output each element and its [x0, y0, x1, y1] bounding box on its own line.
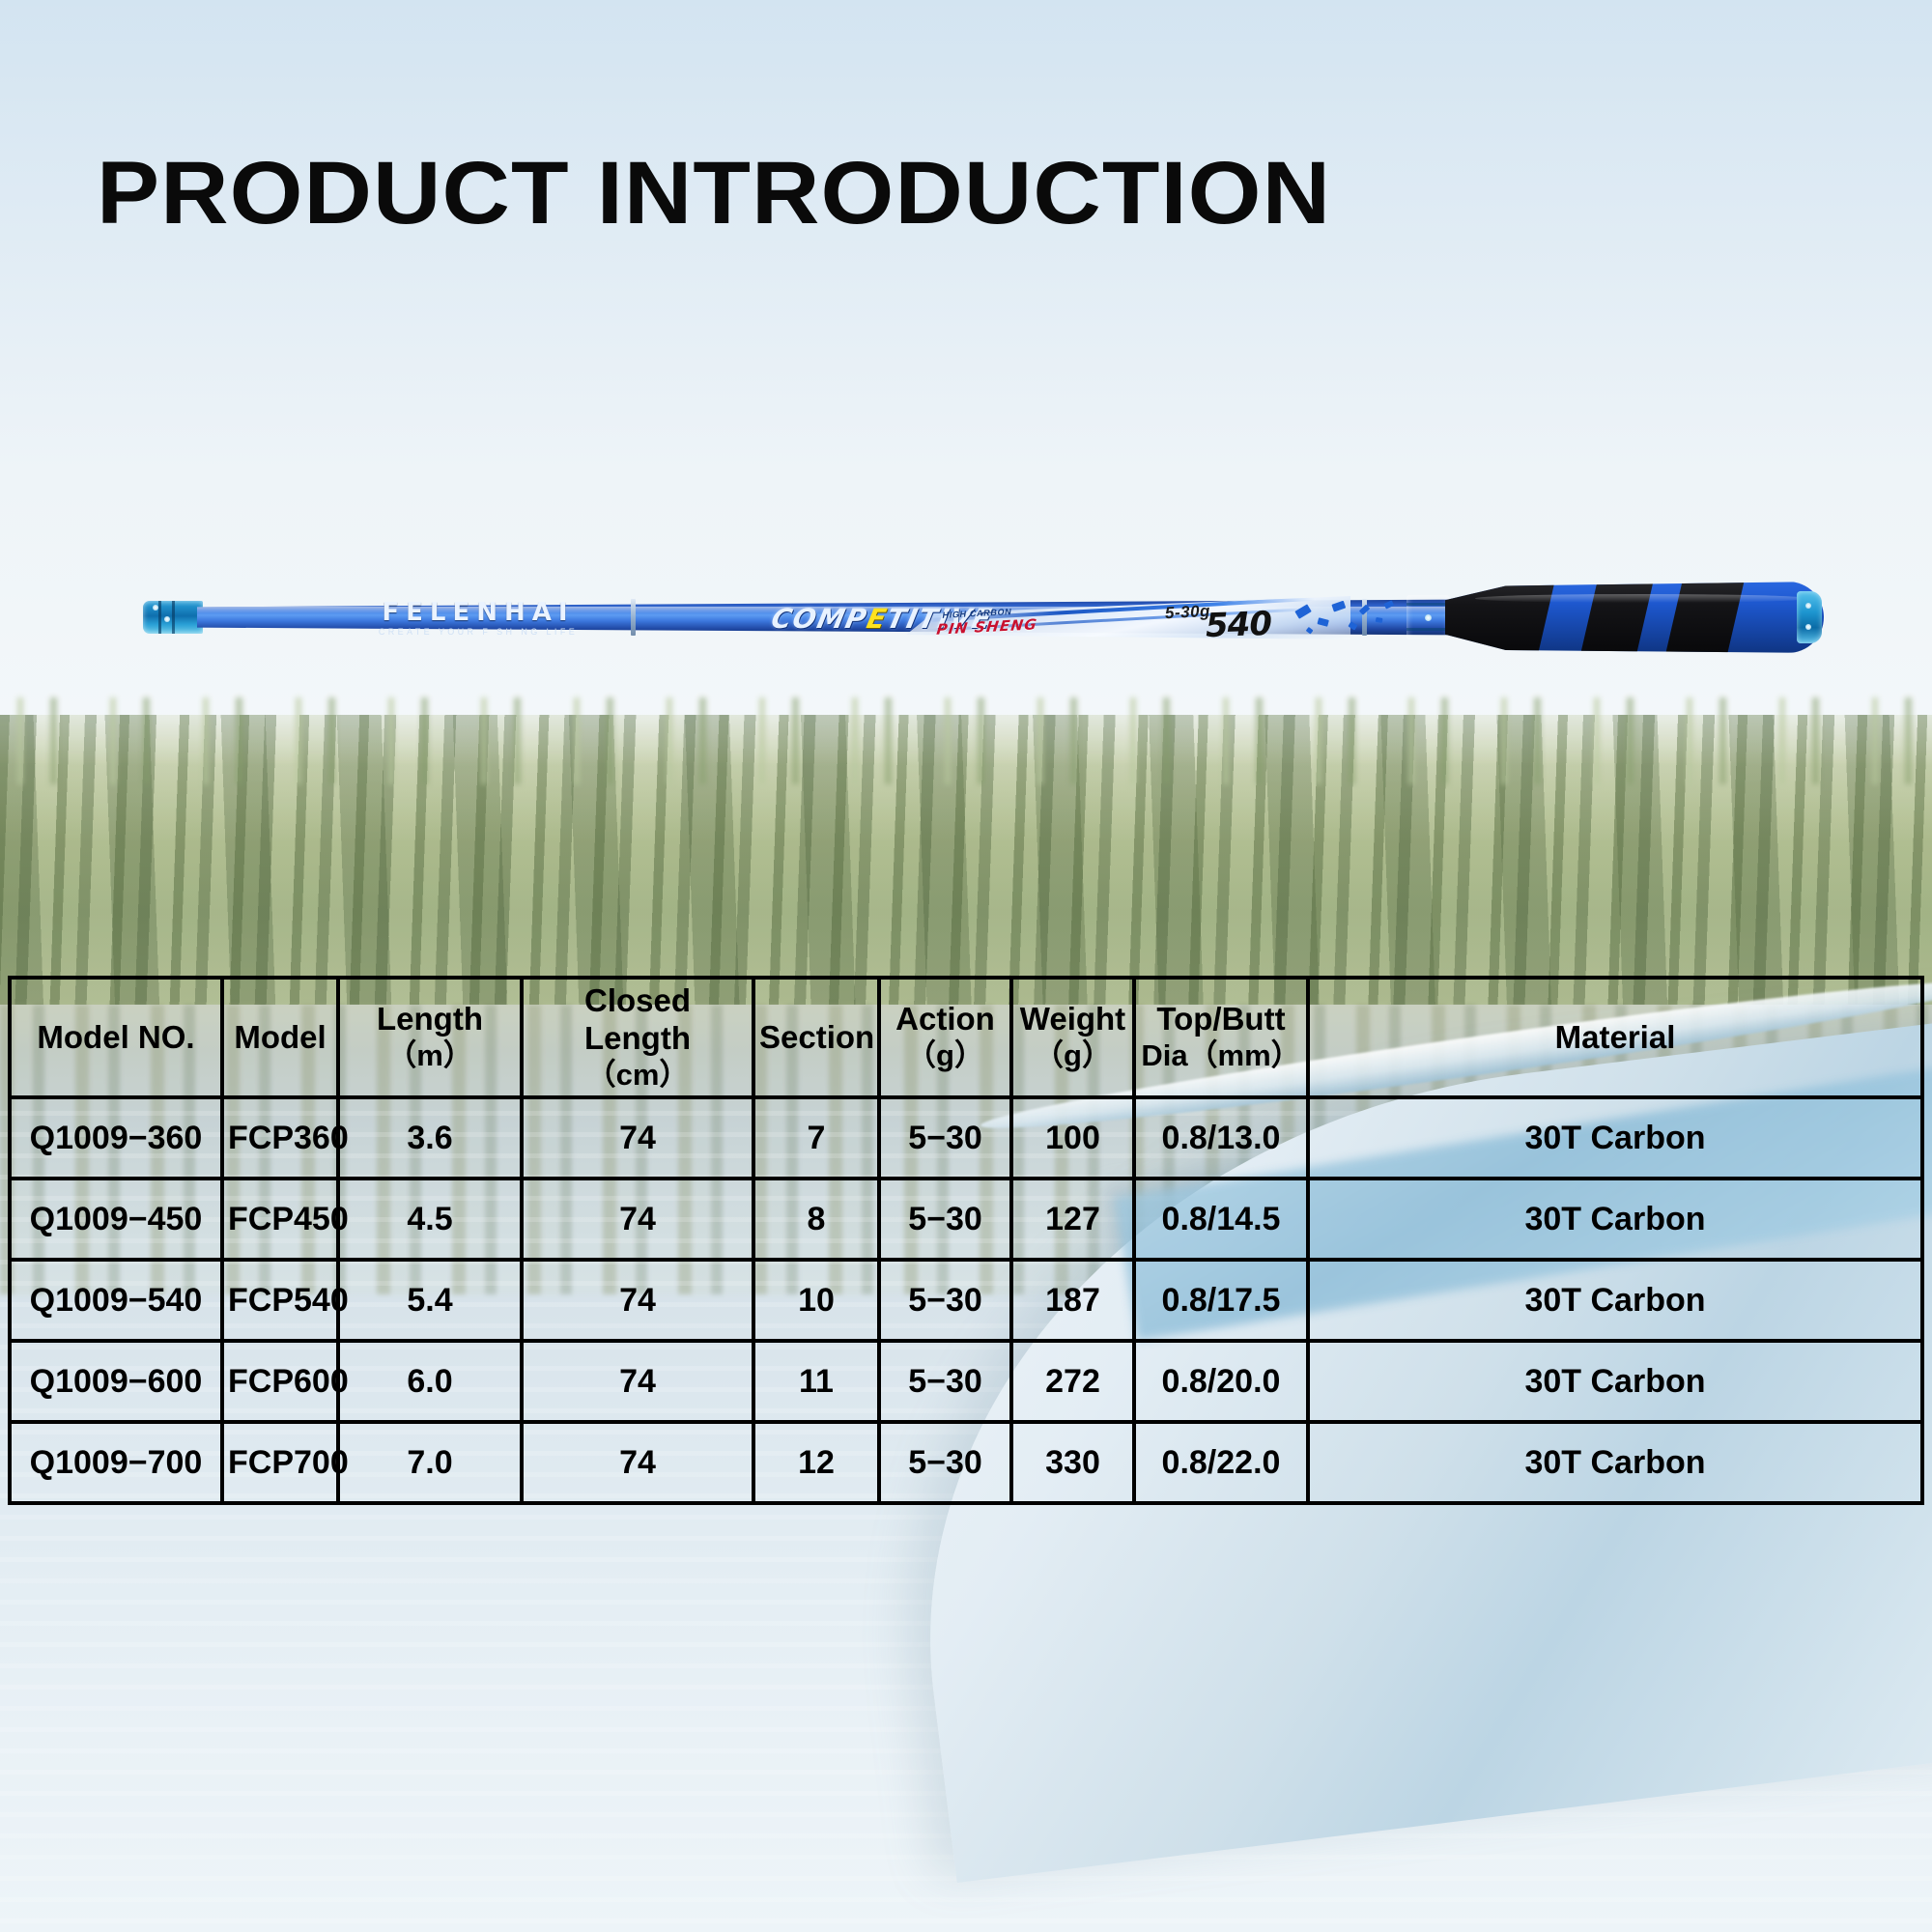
column-header-top-butt-dia: Top/Butt Dia（mm） [1134, 978, 1308, 1097]
page-title: PRODUCT INTRODUCTION [97, 143, 1331, 244]
action-decal: 5-30g [1165, 602, 1211, 623]
model-decal-accent: E [864, 603, 891, 635]
cell-weight: 330 [1011, 1422, 1134, 1503]
cell-top-butt-dia: 0.8/17.5 [1134, 1260, 1308, 1341]
grip-band [1445, 582, 1557, 653]
cell-model: FCP600 [222, 1341, 338, 1422]
cell-model-no: Q1009−540 [10, 1260, 222, 1341]
cell-weight: 187 [1011, 1260, 1134, 1341]
cell-material: 30T Carbon [1308, 1097, 1922, 1179]
cell-section: 10 [753, 1260, 879, 1341]
cell-action: 5−30 [879, 1260, 1011, 1341]
cell-closed-length: 74 [522, 1341, 753, 1422]
cell-section: 11 [753, 1341, 879, 1422]
cell-action: 5−30 [879, 1097, 1011, 1179]
cell-top-butt-dia: 0.8/14.5 [1134, 1179, 1308, 1260]
cell-material: 30T Carbon [1308, 1422, 1922, 1503]
cell-material: 30T Carbon [1308, 1179, 1922, 1260]
cell-closed-length: 74 [522, 1422, 753, 1503]
cell-weight: 127 [1011, 1179, 1134, 1260]
cell-model: FCP450 [222, 1179, 338, 1260]
rod-grip [1445, 582, 1824, 653]
cell-material: 30T Carbon [1308, 1260, 1922, 1341]
cell-model: FCP700 [222, 1422, 338, 1503]
cell-model: FCP360 [222, 1097, 338, 1179]
size-decal: 540 [1205, 608, 1271, 642]
rod-tip-cap [143, 601, 203, 634]
background-scene [0, 0, 1932, 1932]
grip-band [1580, 582, 1657, 653]
cell-action: 5−30 [879, 1179, 1011, 1260]
table-row: Q1009−540FCP5405.474105−301870.8/17.530T… [10, 1260, 1922, 1341]
table-row: Q1009−600FCP6006.074115−302720.8/20.030T… [10, 1341, 1922, 1422]
cell-length: 6.0 [338, 1341, 522, 1422]
cell-section: 7 [753, 1097, 879, 1179]
grip-band [1665, 582, 1747, 653]
cell-length: 4.5 [338, 1179, 522, 1260]
rod-grip-collar [1406, 595, 1449, 639]
cell-closed-length: 74 [522, 1260, 753, 1341]
table-row: Q1009−700FCP7007.074125−303300.8/22.030T… [10, 1422, 1922, 1503]
column-header-model-no: Model NO. [10, 978, 222, 1097]
cell-length: 3.6 [338, 1097, 522, 1179]
cell-weight: 272 [1011, 1341, 1134, 1422]
specification-table: Model NO. Model Length （m） Closed Length… [8, 976, 1924, 1505]
column-header-model: Model [222, 978, 338, 1097]
table-row: Q1009−450FCP4504.57485−301270.8/14.530T … [10, 1179, 1922, 1260]
cell-section: 8 [753, 1179, 879, 1260]
column-header-weight: Weight （g） [1011, 978, 1134, 1097]
cell-model-no: Q1009−700 [10, 1422, 222, 1503]
brand-decal: FELENHAI CREATE YOUR F SH NG LIFE [319, 601, 638, 636]
cell-top-butt-dia: 0.8/22.0 [1134, 1422, 1308, 1503]
decal-confetti-flecks [1292, 596, 1409, 640]
cell-top-butt-dia: 0.8/13.0 [1134, 1097, 1308, 1179]
cell-closed-length: 74 [522, 1179, 753, 1260]
brand-name: FELENHAI [382, 600, 574, 625]
cell-material: 30T Carbon [1308, 1341, 1922, 1422]
table-row: Q1009−360FCP3603.67475−301000.8/13.030T … [10, 1097, 1922, 1179]
cell-model-no: Q1009−600 [10, 1341, 222, 1422]
column-header-length: Length （m） [338, 978, 522, 1097]
column-header-action: Action （g） [879, 978, 1011, 1097]
table-header-row: Model NO. Model Length （m） Closed Length… [10, 978, 1922, 1097]
cell-length: 7.0 [338, 1422, 522, 1503]
cell-top-butt-dia: 0.8/20.0 [1134, 1341, 1308, 1422]
column-header-section: Section [753, 978, 879, 1097]
cell-action: 5−30 [879, 1422, 1011, 1503]
column-header-closed-length: Closed Length （cm） [522, 978, 753, 1097]
rod-butt-cap [1797, 591, 1822, 643]
brand-tagline: CREATE YOUR F SH NG LIFE [379, 628, 578, 637]
cell-section: 12 [753, 1422, 879, 1503]
cell-weight: 100 [1011, 1097, 1134, 1179]
cell-model-no: Q1009−360 [10, 1097, 222, 1179]
cell-closed-length: 74 [522, 1097, 753, 1179]
cell-model-no: Q1009−450 [10, 1179, 222, 1260]
column-header-material: Material [1308, 978, 1922, 1097]
cell-length: 5.4 [338, 1260, 522, 1341]
cell-model: FCP540 [222, 1260, 338, 1341]
product-photo-fishing-rod: FELENHAI CREATE YOUR F SH NG LIFE COMPET… [143, 568, 1824, 665]
cell-action: 5−30 [879, 1341, 1011, 1422]
